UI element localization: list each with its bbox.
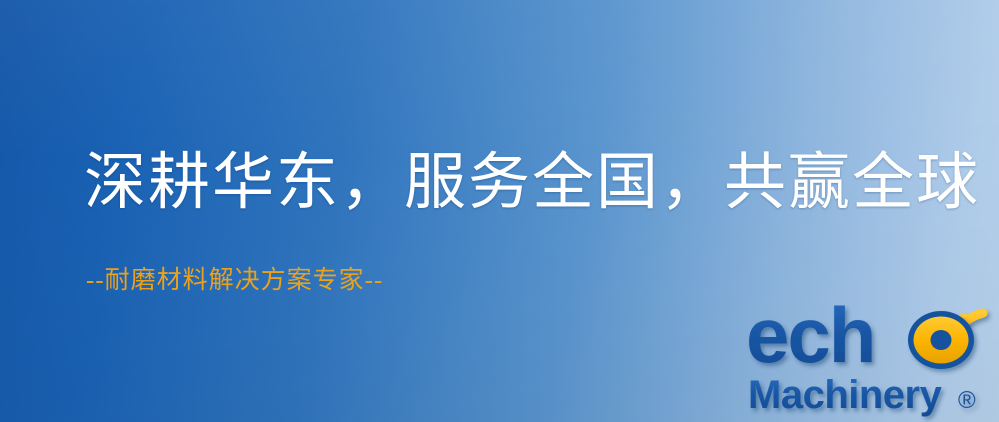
promo-banner: 深耕华东，服务全国，共赢全球 --耐磨材料解决方案专家--: [0, 0, 999, 422]
logo-artwork: ech Machinery ®: [746, 296, 994, 422]
logo-wordmark-ech: ech: [746, 296, 874, 379]
echo-machinery-logo[interactable]: ech Machinery ®: [746, 296, 994, 422]
banner-subheadline: --耐磨材料解决方案专家--: [86, 268, 383, 293]
logo-wordmark-o: [908, 311, 974, 369]
logo-wordmark: ech: [746, 296, 974, 379]
banner-headline: 深耕华东，服务全国，共赢全球: [84, 152, 980, 214]
logo-tagline: Machinery: [748, 373, 943, 417]
registered-trademark-icon: ®: [958, 387, 976, 414]
logo-tagline-group: Machinery ®: [748, 373, 976, 417]
